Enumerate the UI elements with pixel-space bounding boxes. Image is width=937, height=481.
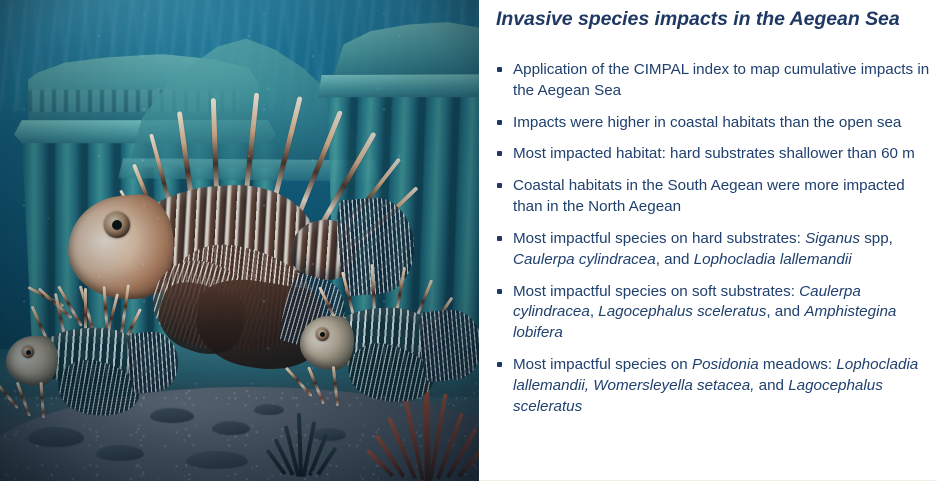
list-item: Application of the CIMPAL index to map c… [492, 60, 932, 102]
bullet-text: Impacts were higher in coastal habitats … [513, 114, 901, 131]
content-panel: Invasive species impacts in the Aegean S… [479, 0, 937, 481]
list-item: Most impacted habitat: hard substrates s… [492, 144, 932, 165]
list-item: Most impactful species on Posidonia mead… [492, 355, 932, 417]
bullet-text: Coastal habitats in the South Aegean wer… [513, 177, 905, 215]
bullet-text: Application of the CIMPAL index to map c… [513, 61, 929, 99]
bullet-text: Most impacted habitat: hard substrates s… [513, 145, 915, 162]
lionfish-small-right [300, 262, 479, 402]
list-item: Impacts were higher in coastal habitats … [492, 113, 932, 134]
lionfish-small-left [4, 288, 194, 418]
list-item: Most impactful species on hard substrate… [492, 229, 932, 271]
presentation-slide: Invasive species impacts in the Aegean S… [0, 0, 937, 481]
bullet-text: Most impactful species on Posidonia mead… [513, 356, 918, 415]
bullet-text: Most impactful species on hard substrate… [513, 230, 893, 268]
list-item: Coastal habitats in the South Aegean wer… [492, 176, 932, 218]
list-item: Most impactful species on soft substrate… [492, 282, 932, 344]
bullet-text: Most impactful species on soft substrate… [513, 283, 896, 342]
slide-title: Invasive species impacts in the Aegean S… [496, 8, 932, 31]
bullet-list: Application of the CIMPAL index to map c… [492, 60, 932, 429]
coral-dark [268, 405, 340, 477]
underwater-illustration [0, 0, 479, 481]
